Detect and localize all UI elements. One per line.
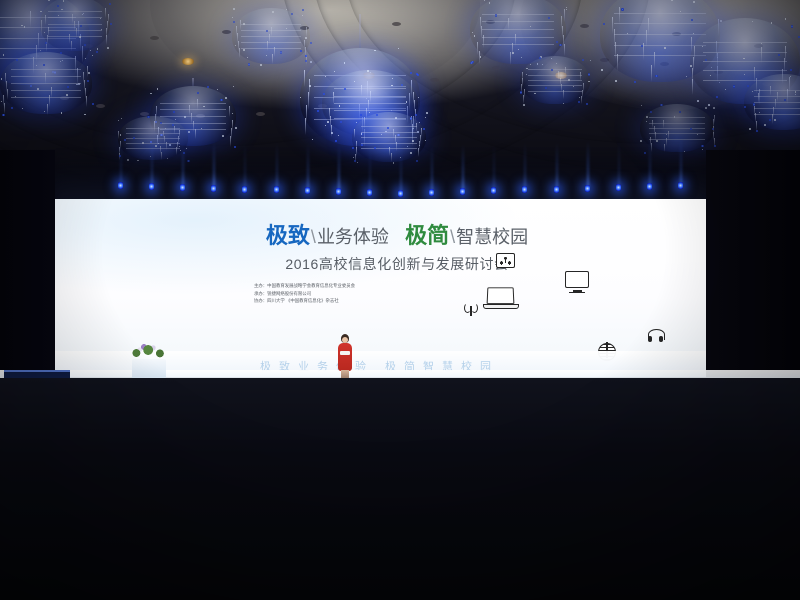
conference-hall-photo: 极致\业务体验 极简\智慧校园 2016高校信息化创新与发展研讨会 主办：中国教… — [0, 0, 800, 600]
stage-light-beam — [400, 146, 402, 192]
ceiling-downlight — [256, 112, 265, 116]
ceiling-downlight — [672, 32, 681, 36]
stage-light-beam — [524, 142, 526, 188]
stage-led-light — [398, 190, 403, 197]
stage-led-light — [242, 186, 247, 193]
stage-led-light — [460, 188, 465, 195]
stage-light-beam — [244, 142, 246, 188]
stage-led-light — [491, 187, 496, 194]
host-red-dress — [338, 343, 352, 371]
antenna-mast — [470, 306, 472, 316]
stage-led-light — [274, 186, 279, 193]
ceiling-downlight — [486, 20, 495, 24]
stage-led-light — [118, 182, 123, 189]
stage-led-light — [149, 183, 154, 190]
stage-led-light — [678, 182, 683, 189]
ceiling-downlight — [546, 60, 555, 64]
stage-led-light — [647, 183, 652, 190]
headset-cup-left — [648, 336, 652, 342]
stage-led-light — [585, 185, 590, 192]
ceiling-downlight — [762, 82, 771, 86]
ceiling-downlight — [430, 78, 439, 82]
ceiling-downlight — [754, 44, 763, 48]
stage-light-beam — [338, 144, 340, 190]
headset-cup-right — [659, 336, 663, 342]
ceiling-downlight — [196, 114, 205, 118]
monitor-screen-part — [565, 271, 589, 288]
headline-rest-1: 业务体验 — [317, 227, 389, 247]
stage-led-light — [180, 184, 185, 191]
antenna-wave-right — [471, 303, 478, 313]
stage-light-beam — [369, 145, 371, 191]
stage-light-beam — [618, 140, 620, 186]
ceiling-downlight — [150, 36, 159, 40]
ceiling-downlight — [84, 44, 93, 48]
ceiling-downlight — [318, 104, 327, 108]
ceiling-downlight — [60, 96, 69, 100]
headline-rest-2: 智慧校园 — [456, 227, 528, 247]
audience-seating — [0, 378, 800, 600]
flower-arrangement — [128, 341, 170, 361]
headline-emphasis-2: 极简 — [405, 223, 449, 248]
stage-light-beam — [151, 139, 153, 185]
ceiling-downlight — [600, 58, 609, 62]
network-hub-icon — [496, 253, 515, 268]
ceiling-downlight — [222, 30, 231, 34]
stage-light-beam — [493, 143, 495, 189]
host-cue-card — [340, 351, 350, 355]
ceiling-downlight — [580, 24, 589, 28]
ceiling-downlight — [492, 66, 501, 70]
stage-led-light — [554, 186, 559, 193]
stage-light-beam — [307, 143, 309, 189]
stage-led-light — [616, 184, 621, 191]
stage-light-beam — [276, 142, 278, 188]
stage-light-beam — [120, 138, 122, 184]
stage-led-light — [429, 189, 434, 196]
stage-light-beam — [680, 138, 682, 184]
stage-light-beam — [649, 139, 651, 185]
laptop-icon — [487, 287, 519, 309]
laptop-base-part — [483, 304, 519, 309]
headline-slash-1: \ — [310, 227, 317, 247]
monitor-base-part — [569, 292, 585, 294]
stage-light-beam — [182, 140, 184, 186]
stage-led-light — [211, 185, 216, 192]
stage-led-light — [305, 187, 310, 194]
stage-light-beam — [587, 141, 589, 187]
antenna-icon — [464, 303, 478, 316]
headset-icon — [648, 329, 663, 342]
stage-led-light — [367, 189, 372, 196]
ceiling-downlight — [392, 22, 401, 26]
laptop-screen-part — [487, 287, 515, 304]
stage-light-beam — [431, 145, 433, 191]
stage-light-beam — [213, 141, 215, 187]
stage-led-light — [336, 188, 341, 195]
monitor-icon — [565, 271, 589, 293]
headline-emphasis-1: 极致 — [266, 223, 310, 248]
ceiling-warm-lamp — [182, 58, 194, 65]
ceiling-warm-lamp — [555, 72, 567, 79]
ceiling-downlight — [300, 26, 309, 30]
ceiling-downlight — [96, 104, 105, 108]
ceiling-downlight — [30, 54, 39, 58]
ceiling-downlight — [372, 92, 381, 96]
stage-light-beam — [462, 144, 464, 190]
ceiling-warm-lamp — [363, 72, 375, 79]
ceiling-downlight — [660, 62, 669, 66]
ceiling-downlight — [140, 112, 149, 116]
screen-headline: 极致\业务体验 极简\智慧校园 — [232, 225, 562, 247]
stage-light-beam — [556, 142, 558, 188]
ceiling-downlight — [714, 70, 723, 74]
